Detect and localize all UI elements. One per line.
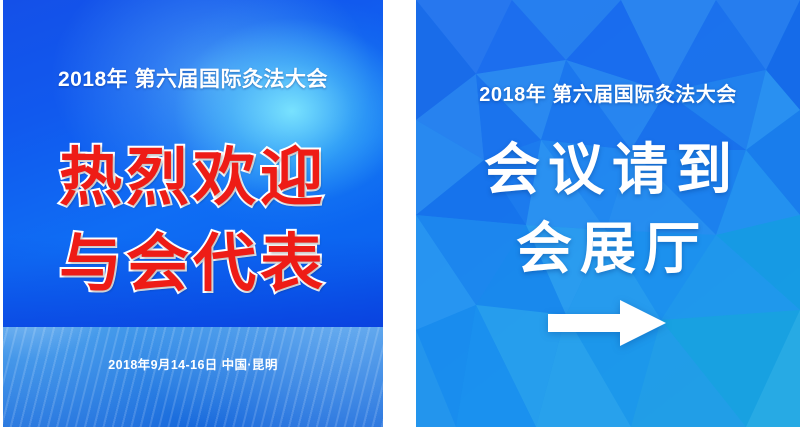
welcome-banner-title: 2018年 第六届国际灸法大会 (3, 63, 383, 93)
welcome-date-location: 2018年9月14-16日 中国·昆明 (3, 354, 383, 373)
globe-landmass (3, 327, 383, 427)
welcome-headline-line-1: 热烈欢迎 (3, 147, 383, 210)
globe-atmosphere-rim (3, 327, 383, 427)
direction-sign-title: 2018年 第六届国际灸法大会 (416, 78, 800, 107)
right-arrow-icon (548, 298, 668, 348)
direction-headline-line-1: 会议请到 (416, 142, 800, 198)
welcome-headline-line-2: 与会代表 (3, 233, 383, 296)
direction-arrow-container (416, 298, 800, 348)
earth-globe-graphic (3, 327, 383, 427)
welcome-banner-panel: 2018年 第六届国际灸法大会 热烈欢迎 与会代表 2018年9月14-16日 … (3, 0, 383, 427)
direction-headline-line-2: 会展厅 (416, 221, 800, 277)
poster-pair-image: 2018年 第六届国际灸法大会 热烈欢迎 与会代表 2018年9月14-16日 … (0, 0, 800, 427)
direction-sign-panel: 2018年 第六届国际灸法大会 会议请到 会展厅 (416, 0, 800, 427)
low-poly-background (416, 0, 800, 427)
globe-sphere (3, 327, 383, 427)
panel-gutter (383, 0, 416, 427)
